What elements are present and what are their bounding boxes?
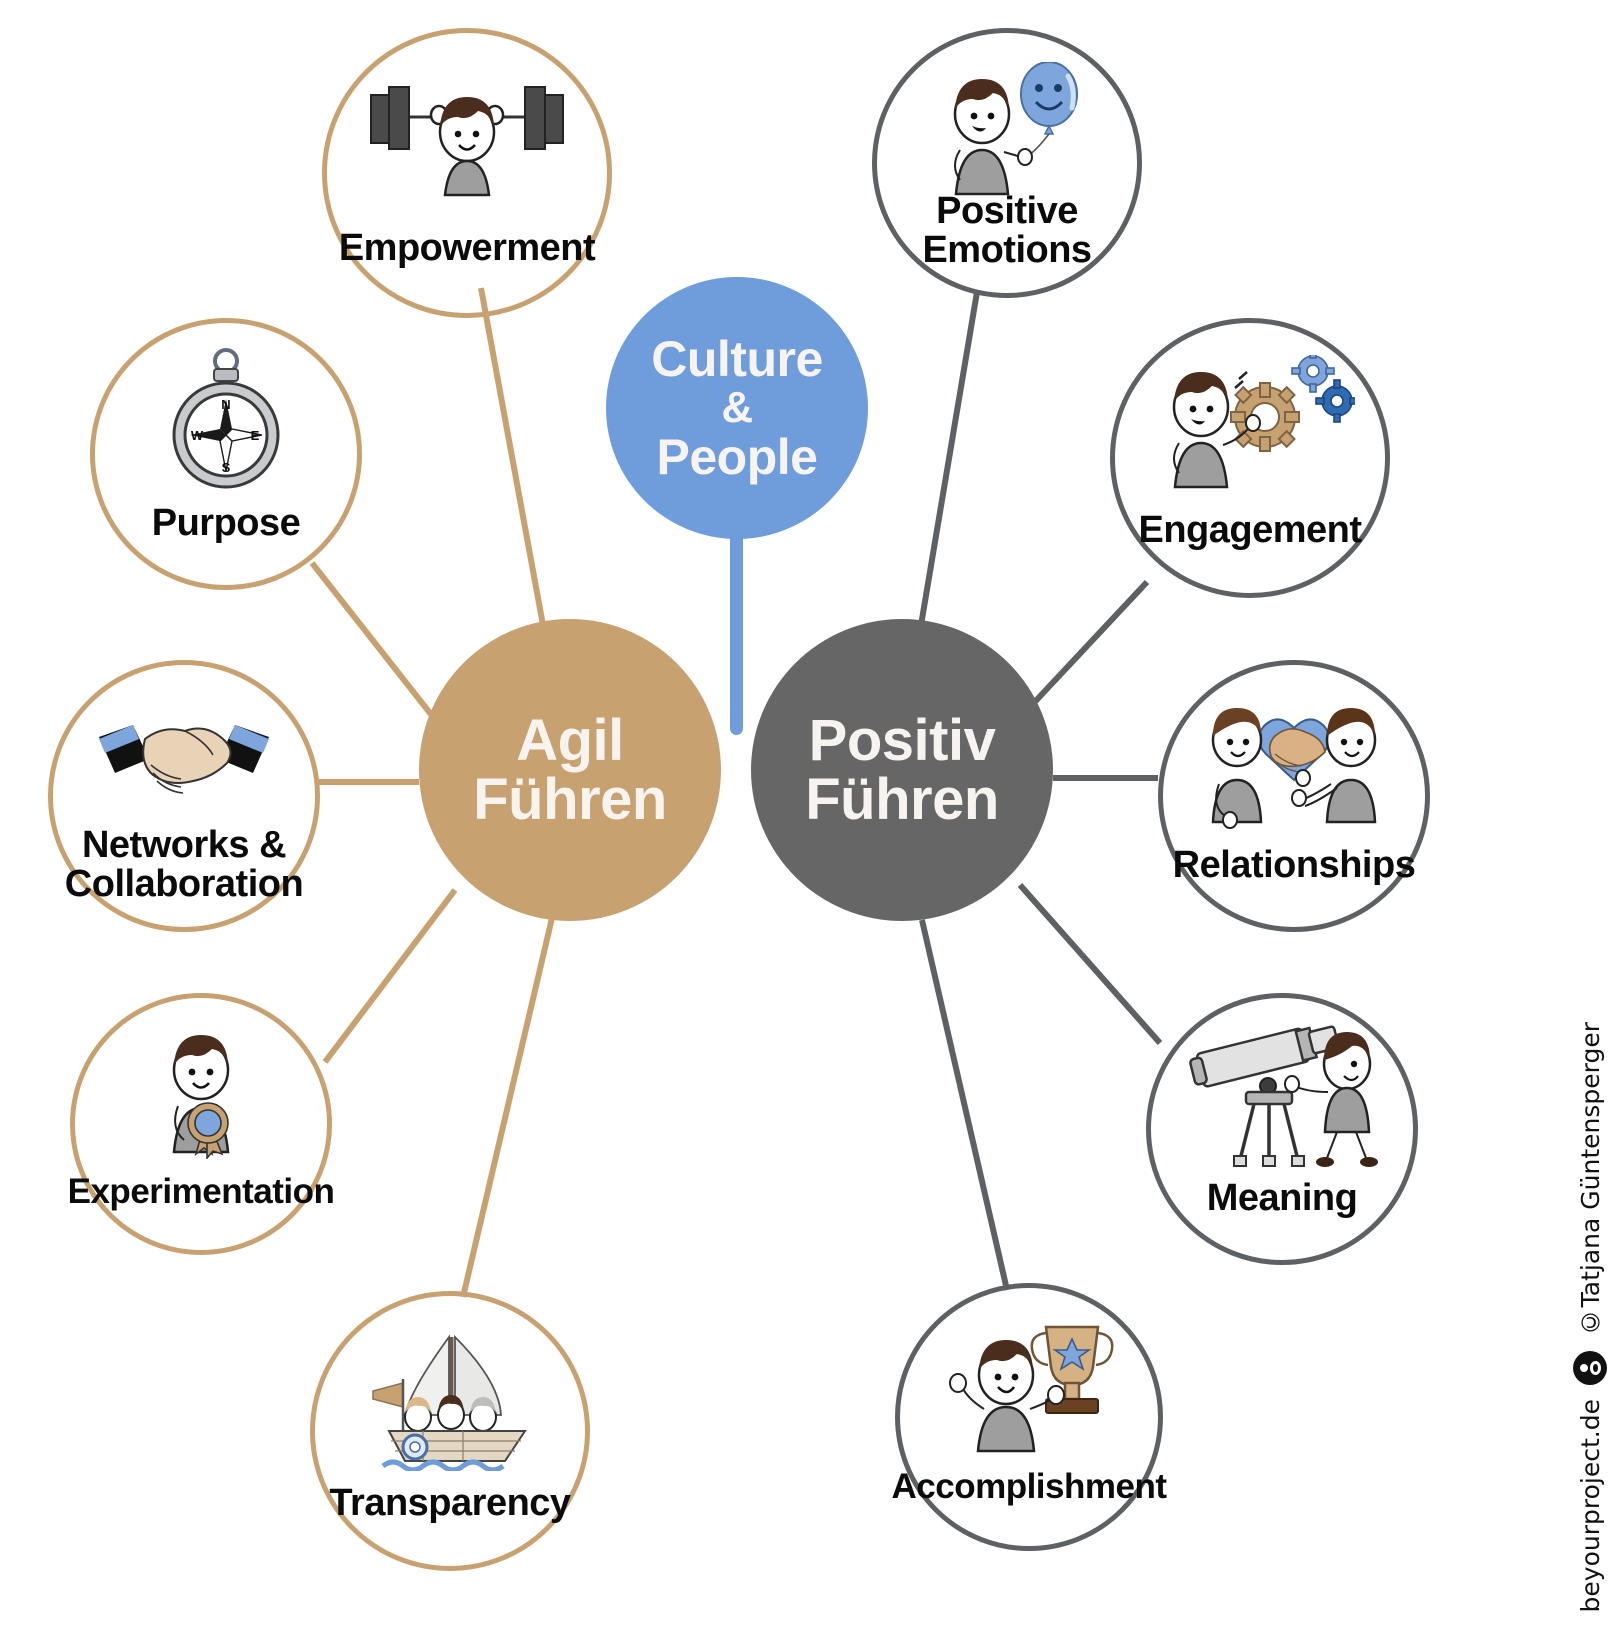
node-accomplishment-label: Accomplishment bbox=[866, 1469, 1192, 1505]
node-engagement[interactable]: Engagement bbox=[1110, 318, 1390, 598]
node-transparency[interactable]: Transparency bbox=[310, 1291, 590, 1571]
watermark: beyourproject.de ©Tatjana Güntensperger bbox=[1570, 972, 1610, 1612]
node-networks-collaboration[interactable]: Networks & Collaboration bbox=[48, 660, 320, 932]
node-positive-emotions-line2: Emotions bbox=[843, 231, 1171, 270]
hub-agil-line2: Führen bbox=[473, 770, 667, 829]
watermark-credit: ©Tatjana Güntensperger bbox=[1576, 1022, 1605, 1336]
node-networks-collaboration-label: Networks & Collaboration bbox=[19, 826, 349, 904]
hub-agil-fuehren[interactable]: Agil Führen bbox=[419, 619, 721, 921]
hub-agil-line1: Agil bbox=[516, 711, 624, 770]
compass-icon: N S E W bbox=[95, 360, 357, 481]
edge-agil-purpose bbox=[312, 563, 437, 722]
watermark-site: beyourproject.de bbox=[1576, 1399, 1605, 1612]
node-accomplishment[interactable]: Accomplishment bbox=[895, 1283, 1163, 1551]
edge-positiv-engagement bbox=[1030, 582, 1147, 707]
edge-agil-experimentation bbox=[325, 890, 455, 1062]
culture-stem bbox=[730, 520, 743, 735]
hub-positiv-line1: Positiv bbox=[809, 711, 996, 770]
node-networks-line1: Networks & bbox=[19, 826, 349, 865]
edge-agil-empowerment bbox=[481, 288, 545, 636]
node-empowerment-label: Empowerment bbox=[293, 229, 641, 268]
node-purpose-label: Purpose bbox=[61, 504, 391, 543]
culture-line3: People bbox=[657, 431, 818, 483]
node-positive-emotions-line1: Positive bbox=[843, 192, 1171, 231]
svg-text:S: S bbox=[222, 460, 231, 475]
handshake-icon bbox=[53, 702, 315, 823]
edge-positiv-meaning bbox=[1020, 885, 1160, 1043]
svg-text:E: E bbox=[251, 428, 260, 443]
node-networks-line2: Collaboration bbox=[19, 865, 349, 904]
person-with-trophy-icon bbox=[900, 1324, 1158, 1443]
edge-positiv-accomplishment bbox=[922, 920, 1007, 1290]
node-engagement-label: Engagement bbox=[1081, 511, 1419, 550]
edge-positiv-positive-emotions bbox=[918, 292, 977, 643]
person-with-gears-icon bbox=[1115, 361, 1385, 485]
sailboat-icon bbox=[315, 1334, 585, 1458]
culture-line2: & bbox=[721, 385, 752, 431]
node-experimentation[interactable]: Experimentation bbox=[70, 993, 332, 1255]
svg-text:W: W bbox=[191, 428, 204, 443]
node-experimentation-label: Experimentation bbox=[41, 1174, 361, 1210]
weightlifter-icon bbox=[327, 72, 607, 201]
node-empowerment[interactable]: Empowerment bbox=[322, 28, 612, 318]
node-purpose[interactable]: N S E W Purpose bbox=[90, 318, 362, 590]
node-relationships[interactable]: Relationships bbox=[1158, 660, 1430, 932]
node-relationships-label: Relationships bbox=[1129, 846, 1459, 885]
beyourproject-logo-icon bbox=[1573, 1351, 1607, 1385]
node-meaning-label: Meaning bbox=[1117, 1179, 1447, 1218]
person-with-rosette-icon bbox=[75, 1033, 327, 1149]
person-with-balloon-icon bbox=[877, 69, 1137, 189]
svg-text:N: N bbox=[221, 397, 230, 412]
edge-agil-transparency bbox=[463, 918, 552, 1297]
hub-positiv-line2: Führen bbox=[805, 770, 999, 829]
node-transparency-label: Transparency bbox=[281, 1484, 619, 1523]
node-positive-emotions[interactable]: Positive Emotions bbox=[872, 28, 1142, 298]
two-people-heart-handshake-icon bbox=[1163, 702, 1425, 823]
node-positive-emotions-label: Positive Emotions bbox=[843, 192, 1171, 270]
node-meaning[interactable]: Meaning bbox=[1146, 993, 1418, 1265]
bubble-culture-and-people[interactable]: Culture & People bbox=[606, 277, 868, 539]
telescope-icon bbox=[1151, 1035, 1413, 1156]
culture-line1: Culture bbox=[651, 333, 823, 385]
hub-positiv-fuehren[interactable]: Positiv Führen bbox=[751, 619, 1053, 921]
diagram-canvas: Agil Führen Positiv Führen Culture & Peo… bbox=[0, 0, 1616, 1652]
